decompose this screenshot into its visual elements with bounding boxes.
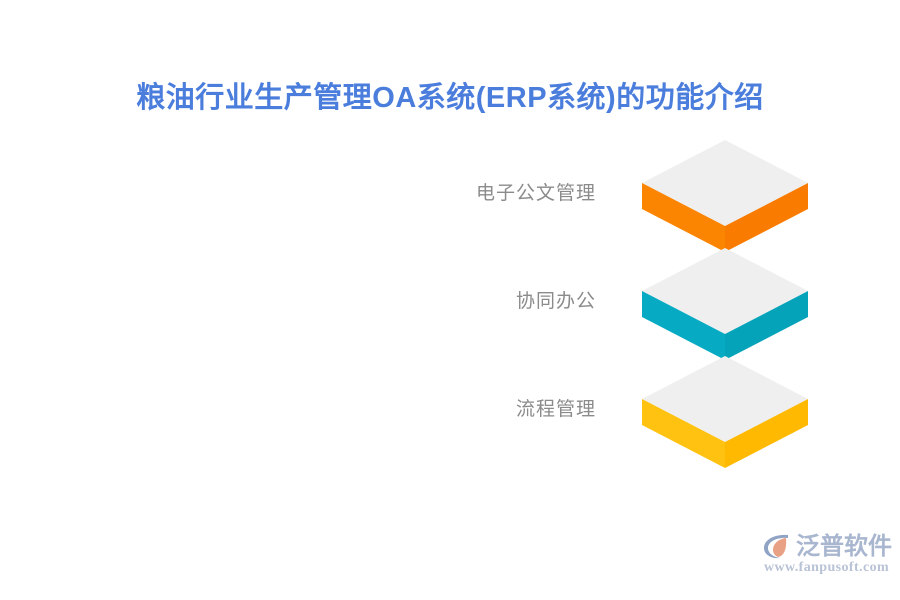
brand-url: www.fanpusoft.com	[764, 560, 889, 576]
feature-row[interactable]: 流程管理	[400, 354, 830, 470]
feature-label-0: 电子公文管理	[400, 178, 596, 205]
slide-canvas: 粮油行业生产管理OA系统(ERP系统)的功能介绍 电子公文管理 协同办公	[0, 0, 900, 600]
feature-row[interactable]: 协同办公	[400, 246, 830, 362]
isometric-block-2[interactable]	[640, 354, 810, 470]
page-title: 粮油行业生产管理OA系统(ERP系统)的功能介绍	[0, 74, 900, 116]
brand-name: 泛普软件	[796, 533, 892, 560]
feature-label-2: 流程管理	[400, 394, 596, 421]
fanpu-logo-icon	[762, 533, 792, 560]
feature-label-1: 协同办公	[400, 286, 596, 313]
brand-logo-row: 泛普软件	[762, 533, 892, 560]
feature-row[interactable]: 电子公文管理	[400, 138, 830, 254]
isometric-block-0[interactable]	[640, 138, 810, 254]
brand-watermark: 泛普软件 www.fanpusoft.com	[762, 533, 894, 589]
isometric-block-1[interactable]	[640, 246, 810, 362]
feature-block-diagram: 电子公文管理 协同办公	[400, 138, 830, 478]
